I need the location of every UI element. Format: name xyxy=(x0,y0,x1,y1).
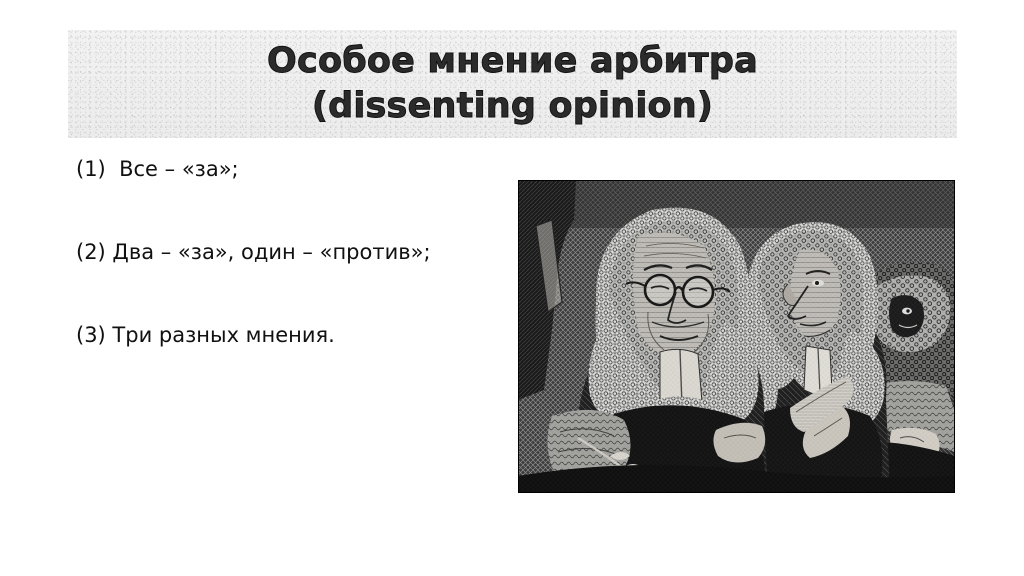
judges-engraving-image xyxy=(518,180,955,493)
slide-title-line-1: Особое мнение арбитра xyxy=(267,40,758,83)
list-item-3: (3) Три разных мнения. xyxy=(76,321,506,349)
slide-canvas: Особое мнение арбитра (dissenting opinio… xyxy=(0,0,1024,576)
slide-title-line-2: (dissenting opinion) xyxy=(312,85,713,128)
slide-body-list: (1) Все – «за»; (2) Два – «за», один – «… xyxy=(76,155,506,349)
slide-title-banner: Особое мнение арбитра (dissenting opinio… xyxy=(68,30,957,138)
list-item-1: (1) Все – «за»; xyxy=(76,155,506,183)
list-item-2: (2) Два – «за», один – «против»; xyxy=(76,238,506,266)
judges-engraving-svg xyxy=(518,180,955,493)
